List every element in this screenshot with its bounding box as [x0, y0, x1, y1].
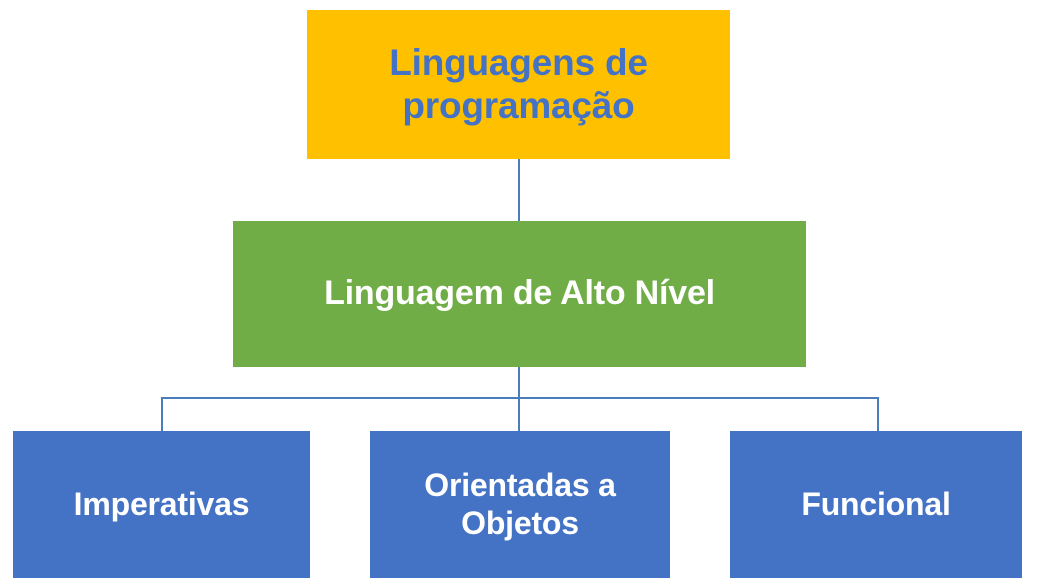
node-linguagens-de-programacao[interactable]: Linguagens de programação — [307, 10, 730, 159]
connector-branch-to-imperativas — [161, 397, 163, 431]
node-orientadas-label-line2: Objetos — [461, 505, 579, 541]
node-orientadas-a-objetos[interactable]: Orientadas a Objetos — [370, 431, 670, 578]
node-imperativas-label: Imperativas — [74, 486, 250, 523]
node-root-label-line2: programação — [389, 85, 647, 128]
node-root-text-wrapper: Linguagens de programação — [389, 42, 647, 128]
connector-root-to-high-level — [518, 159, 520, 221]
node-root-label-line1: Linguagens de — [389, 42, 647, 85]
connector-branch-horizontal-bar — [161, 397, 879, 399]
node-orientadas-text-wrapper: Orientadas a Objetos — [382, 467, 658, 541]
node-orientadas-label-line1: Orientadas a — [424, 467, 615, 503]
node-high-level-label: Linguagem de Alto Nível — [324, 274, 715, 313]
connector-branch-to-funcional — [877, 397, 879, 431]
node-funcional[interactable]: Funcional — [730, 431, 1022, 578]
node-funcional-label: Funcional — [801, 486, 950, 523]
node-linguagem-de-alto-nivel[interactable]: Linguagem de Alto Nível — [233, 221, 806, 367]
connector-high-level-stem — [518, 367, 520, 431]
node-imperativas[interactable]: Imperativas — [13, 431, 310, 578]
diagram-canvas: Linguagens de programação Linguagem de A… — [0, 0, 1037, 588]
